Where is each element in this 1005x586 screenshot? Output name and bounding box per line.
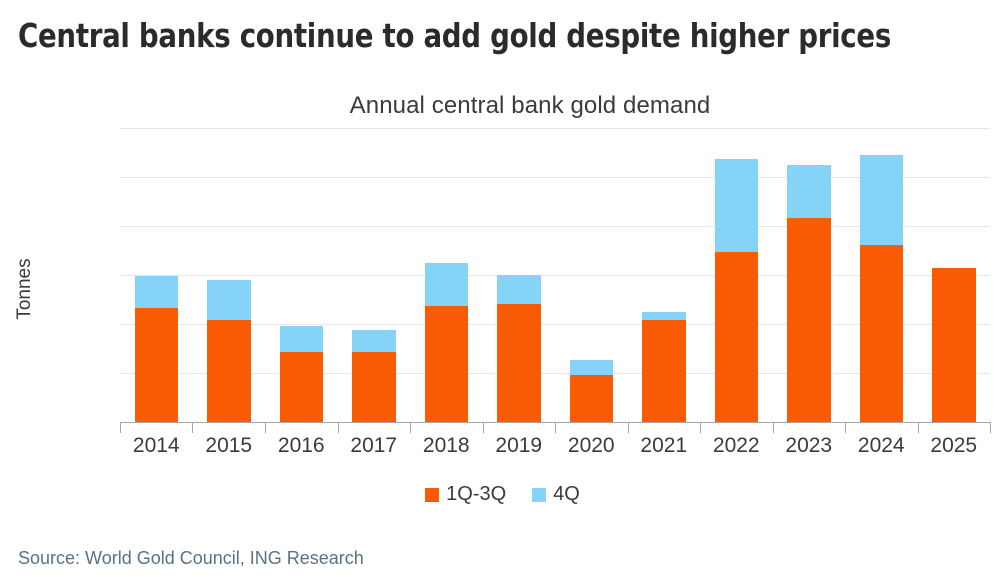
x-axis-tick	[338, 422, 339, 433]
bar-segment-1q-3q[interactable]	[425, 306, 469, 422]
bar-group-2021[interactable]	[628, 128, 701, 422]
x-axis-label-2015: 2015	[193, 434, 266, 458]
bar-segment-1q-3q[interactable]	[642, 320, 686, 422]
bar-group-2017[interactable]	[338, 128, 411, 422]
legend-swatch-icon	[532, 488, 546, 502]
bar-segment-1q-3q[interactable]	[207, 320, 251, 422]
bar-segment-1q-3q[interactable]	[715, 252, 759, 422]
x-axis-label-2023: 2023	[773, 434, 846, 458]
bar-stack	[497, 275, 541, 422]
x-axis-label-2020: 2020	[555, 434, 628, 458]
x-axis-label-2022: 2022	[700, 434, 773, 458]
bar-segment-1q-3q[interactable]	[352, 352, 396, 422]
bar-segment-1q-3q[interactable]	[570, 375, 614, 422]
bar-series-group	[120, 128, 990, 422]
bar-stack	[207, 280, 251, 422]
bar-segment-4q[interactable]	[860, 155, 904, 245]
x-axis-label-2018: 2018	[410, 434, 483, 458]
bar-stack	[642, 312, 686, 422]
bar-segment-4q[interactable]	[352, 330, 396, 352]
chart-title: Annual central bank gold demand	[110, 92, 950, 120]
x-axis-label-2025: 2025	[918, 434, 991, 458]
bar-segment-4q[interactable]	[715, 159, 759, 253]
x-axis-tick	[555, 422, 556, 433]
legend-label: 1Q-3Q	[446, 483, 506, 506]
bar-group-2025[interactable]	[918, 128, 991, 422]
bar-stack	[932, 268, 976, 422]
x-axis-tick	[265, 422, 266, 433]
source-note: Source: World Gold Council, ING Research	[18, 548, 364, 569]
bar-segment-1q-3q[interactable]	[787, 218, 831, 422]
bar-group-2019[interactable]	[483, 128, 556, 422]
x-axis-label-2024: 2024	[845, 434, 918, 458]
y-axis-title: Tonnes	[14, 234, 36, 344]
page-title: Central banks continue to add gold despi…	[18, 16, 920, 55]
x-axis-tick	[120, 422, 121, 433]
bar-segment-4q[interactable]	[787, 165, 831, 218]
legend-item-4q[interactable]: 4Q	[532, 483, 580, 506]
bar-segment-4q[interactable]	[497, 275, 541, 304]
x-axis-tick	[845, 422, 846, 433]
bar-stack	[715, 159, 759, 422]
legend-swatch-icon	[425, 488, 439, 502]
x-axis-labels: 2014201520162017201820192020202120222023…	[120, 434, 990, 458]
x-axis-tick	[773, 422, 774, 433]
bar-stack	[135, 276, 179, 422]
bar-group-2022[interactable]	[700, 128, 773, 422]
x-axis-tick	[410, 422, 411, 433]
bar-stack	[352, 330, 396, 422]
bar-group-2015[interactable]	[193, 128, 266, 422]
bar-segment-1q-3q[interactable]	[135, 308, 179, 422]
bar-group-2023[interactable]	[773, 128, 846, 422]
chart-legend: 1Q-3Q4Q	[0, 483, 1005, 506]
bar-segment-4q[interactable]	[135, 276, 179, 308]
bar-segment-1q-3q[interactable]	[497, 304, 541, 422]
bar-segment-1q-3q[interactable]	[932, 268, 976, 422]
x-axis-ticks	[120, 422, 990, 434]
legend-label: 4Q	[553, 483, 580, 506]
bar-segment-4q[interactable]	[207, 280, 251, 320]
bar-group-2024[interactable]	[845, 128, 918, 422]
bar-group-2018[interactable]	[410, 128, 483, 422]
bar-segment-4q[interactable]	[425, 263, 469, 306]
bar-stack	[570, 360, 614, 422]
x-axis-tick	[192, 422, 193, 433]
bar-segment-1q-3q[interactable]	[280, 352, 324, 422]
x-axis-label-2021: 2021	[628, 434, 701, 458]
x-axis-tick	[990, 422, 991, 433]
x-axis-label-2014: 2014	[120, 434, 193, 458]
plot-area: 02004006008001,0001,200	[120, 128, 990, 422]
bar-segment-4q[interactable]	[570, 360, 614, 375]
chart-container: Annual central bank gold demand Tonnes 0…	[0, 78, 1005, 528]
bar-stack	[280, 326, 324, 422]
x-axis-label-2017: 2017	[338, 434, 411, 458]
bar-group-2014[interactable]	[120, 128, 193, 422]
bar-segment-4q[interactable]	[642, 312, 686, 321]
x-axis-label-2016: 2016	[265, 434, 338, 458]
bar-stack	[860, 155, 904, 422]
bar-segment-1q-3q[interactable]	[860, 245, 904, 422]
bar-stack	[425, 263, 469, 422]
x-axis-tick	[700, 422, 701, 433]
x-axis-tick	[628, 422, 629, 433]
bar-stack	[787, 165, 831, 422]
x-axis-label-2019: 2019	[483, 434, 556, 458]
legend-item-1q-3q[interactable]: 1Q-3Q	[425, 483, 506, 506]
bar-group-2016[interactable]	[265, 128, 338, 422]
bar-group-2020[interactable]	[555, 128, 628, 422]
x-axis-tick	[918, 422, 919, 433]
bar-segment-4q[interactable]	[280, 326, 324, 352]
x-axis-tick	[483, 422, 484, 433]
